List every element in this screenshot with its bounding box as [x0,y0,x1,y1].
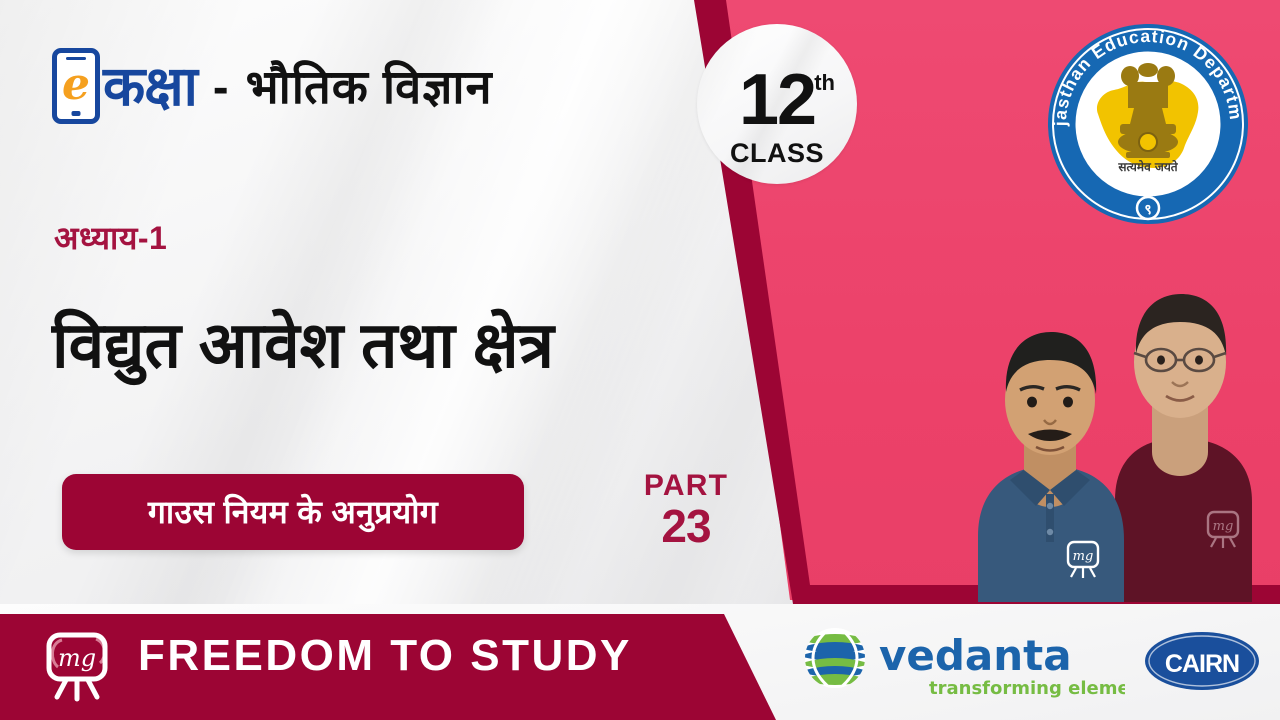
brand-e-letter: e [57,63,95,107]
instructor-right: mg [1115,294,1252,602]
title-card: e कक्षा - भौतिक विज्ञान 12 th CLASS [0,0,1280,720]
class-label: CLASS [697,140,857,167]
vedanta-wordmark: vedanta [879,631,1072,680]
brand-separator: - [213,63,230,110]
instructor-left: mg [978,332,1124,602]
part-number: 23 [626,502,746,550]
sponsor-logo-cairn: CAIRN [1143,630,1261,692]
part-indicator: PART 23 [626,470,746,550]
svg-text:mg: mg [1073,549,1094,564]
cairn-wordmark: CAIRN [1165,650,1239,678]
rajasthan-education-department-seal: सत्यमेव जयते Rajasthan Education Departm… [1042,18,1254,230]
phone-home-button [72,111,81,116]
page-title: विद्युत आवेश तथा क्षेत्र [52,312,554,379]
class-badge: 12 th CLASS [697,24,857,184]
seal-motto: सत्यमेव जयते [1117,160,1178,174]
footer-tagline: FREEDOM TO STUDY [138,634,632,678]
instructor-photos: mg [940,250,1280,602]
class-ordinal-suffix: th [814,70,835,96]
part-word: PART [626,470,746,502]
svg-text:mg: mg [1213,519,1234,534]
vedanta-tagline: transforming elements [929,678,1125,699]
topic-label: गाउस नियम के अनुप्रयोग [148,496,438,528]
chapter-label: अध्याय-1 [54,222,167,254]
sponsor-logo-vedanta: vedanta transforming elements [795,622,1125,700]
brand-name: कक्षा [103,59,197,114]
topic-banner: गाउस नियम के अनुप्रयोग [62,474,524,550]
subject-name: भौतिक विज्ञान [246,63,493,110]
mg-logo-icon: mg [40,627,114,703]
smartphone-icon: e [52,48,100,124]
mg-logo-text: mg [58,644,96,672]
vedanta-globe-icon [799,624,871,692]
brand-logo: e कक्षा - भौतिक विज्ञान [52,48,493,124]
svg-text:९: ९ [1144,202,1151,218]
